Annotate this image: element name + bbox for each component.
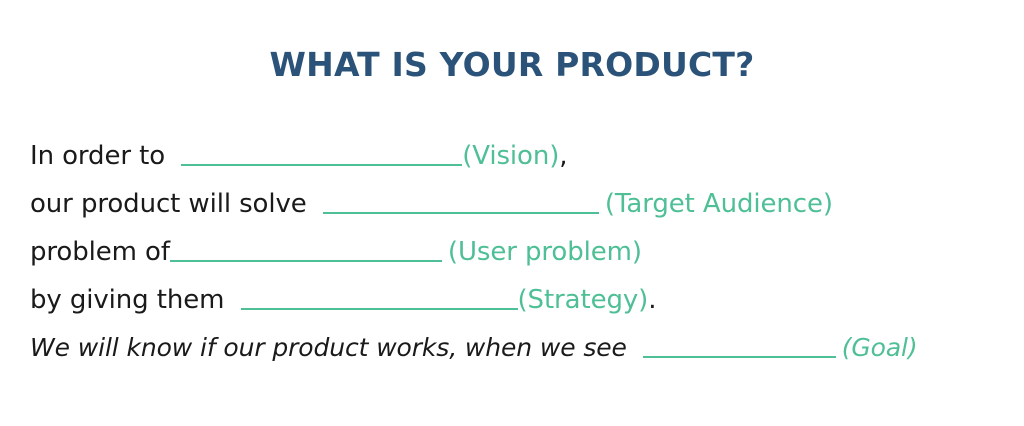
statement-punct-vision: , bbox=[559, 141, 567, 171]
statement-hint-goal: (Goal) bbox=[842, 333, 918, 362]
page-title: WHAT IS YOUR PRODUCT? bbox=[0, 46, 1024, 84]
statement-hint-user-problem: (User problem) bbox=[448, 237, 642, 267]
statement-block: In order to (Vision), our product will s… bbox=[30, 132, 1010, 372]
statement-line-vision: In order to (Vision), bbox=[30, 132, 1010, 180]
statement-lead-vision: In order to bbox=[30, 141, 165, 171]
statement-hint-strategy: (Strategy) bbox=[518, 285, 649, 315]
statement-line-target-audience: our product will solve (Target Audience) bbox=[30, 180, 1010, 228]
statement-lead-user-problem: problem of bbox=[30, 237, 170, 267]
goal-blank[interactable] bbox=[643, 332, 836, 358]
statement-lead-strategy: by giving them bbox=[30, 285, 224, 315]
statement-line-goal: We will know if our product works, when … bbox=[30, 324, 1010, 372]
statement-hint-vision: (Vision) bbox=[462, 141, 559, 171]
statement-punct-strategy: . bbox=[648, 285, 656, 315]
strategy-blank[interactable] bbox=[241, 284, 518, 310]
statement-lead-target-audience: our product will solve bbox=[30, 189, 307, 219]
statement-lead-goal: We will know if our product works, when … bbox=[30, 333, 627, 362]
user-problem-blank[interactable] bbox=[170, 236, 442, 262]
slide-canvas: WHAT IS YOUR PRODUCT? In order to (Visio… bbox=[0, 0, 1024, 426]
vision-blank[interactable] bbox=[181, 140, 462, 166]
statement-line-strategy: by giving them (Strategy). bbox=[30, 276, 1010, 324]
statement-line-user-problem: problem of(User problem) bbox=[30, 228, 1010, 276]
target-audience-blank[interactable] bbox=[323, 188, 599, 214]
statement-hint-target-audience: (Target Audience) bbox=[605, 189, 833, 219]
